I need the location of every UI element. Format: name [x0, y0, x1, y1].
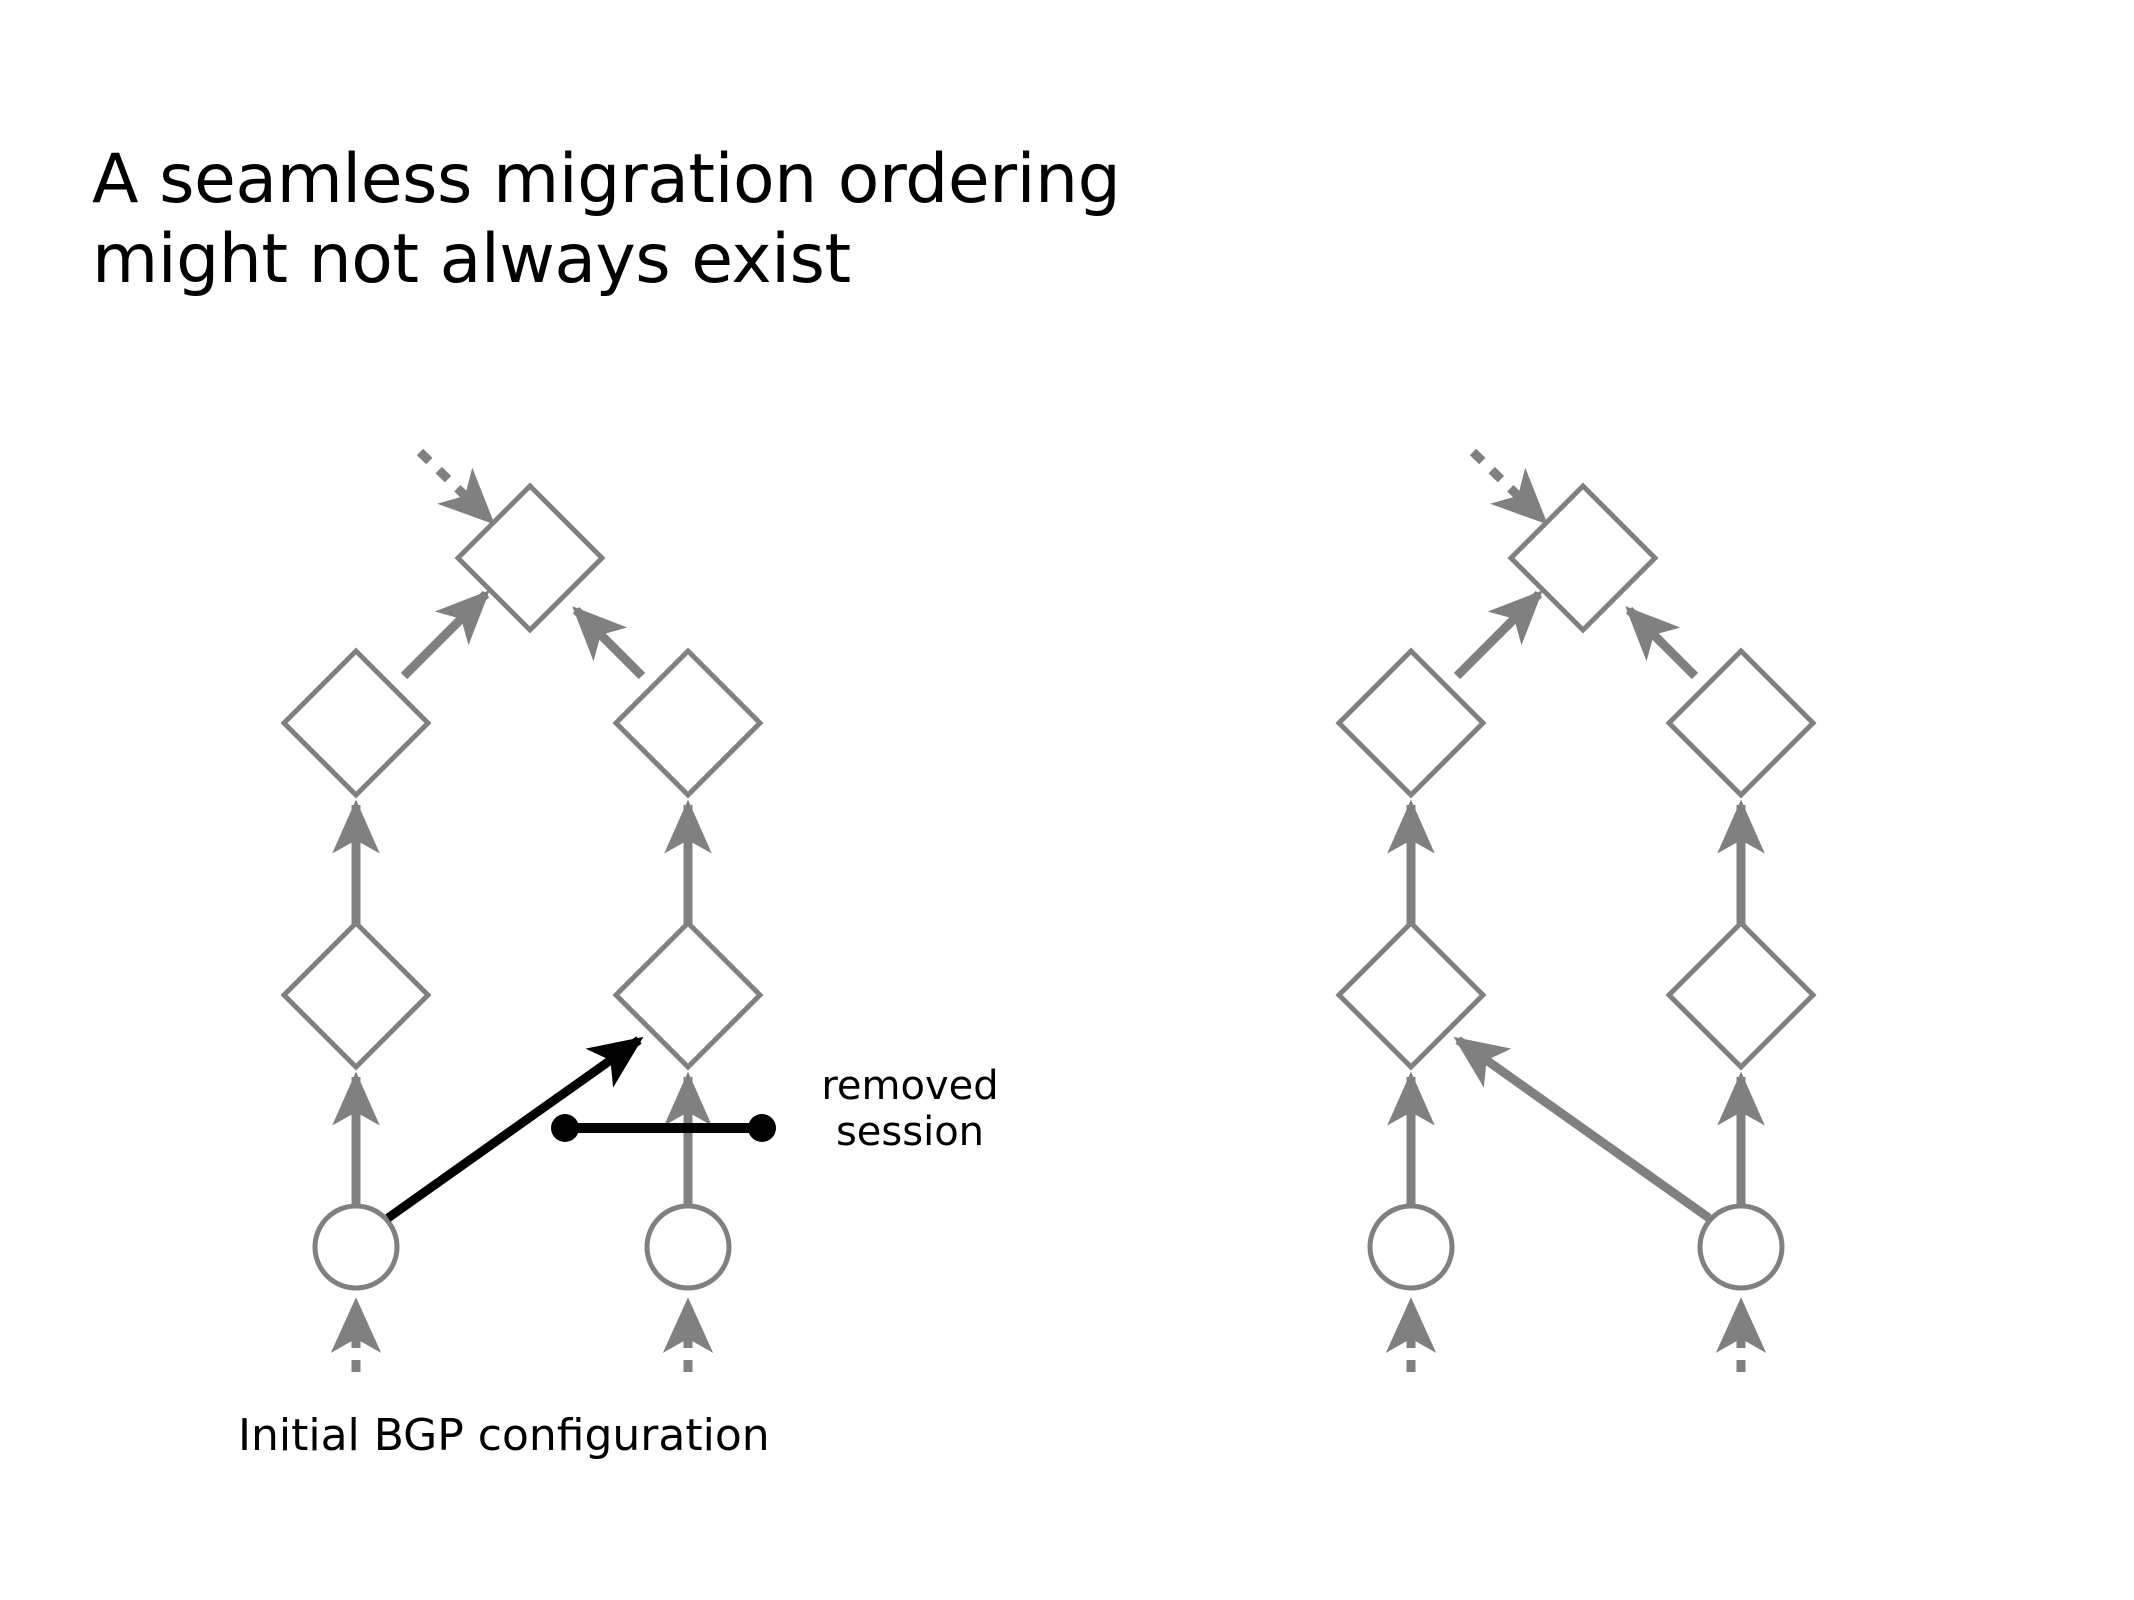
node-circle-right-right[interactable] [1700, 1206, 1782, 1288]
edge-midleft-to-top-left [404, 594, 486, 676]
edge-crossover-session-right [1458, 1040, 1709, 1218]
node-circle-right[interactable] [647, 1206, 729, 1288]
edge-external-to-top-right [1473, 452, 1540, 517]
left-diagram [284, 452, 776, 1372]
edge-midright-to-top-right [1629, 610, 1695, 676]
removed-session-label: removed session [800, 1063, 1020, 1155]
node-circle-left-right[interactable] [1370, 1206, 1452, 1288]
right-diagram [1339, 452, 1813, 1372]
removed-session-dot-left [551, 1114, 579, 1142]
node-diamond-low-left[interactable] [284, 923, 428, 1067]
slide-canvas: A seamless migration ordering might not … [0, 0, 2134, 1600]
edge-external-to-top-left [420, 452, 487, 517]
caption-initial-bgp-configuration: Initial BGP configuration [238, 1410, 770, 1461]
bgp-topology-figure [0, 0, 2134, 1600]
removed-session-dot-right [748, 1114, 776, 1142]
edge-midleft-to-top-right [1457, 594, 1539, 676]
node-diamond-low-right-right[interactable] [1669, 923, 1813, 1067]
edge-midright-to-top-left [576, 610, 642, 676]
node-circle-left[interactable] [315, 1206, 397, 1288]
removed-session-marker [551, 1114, 776, 1142]
